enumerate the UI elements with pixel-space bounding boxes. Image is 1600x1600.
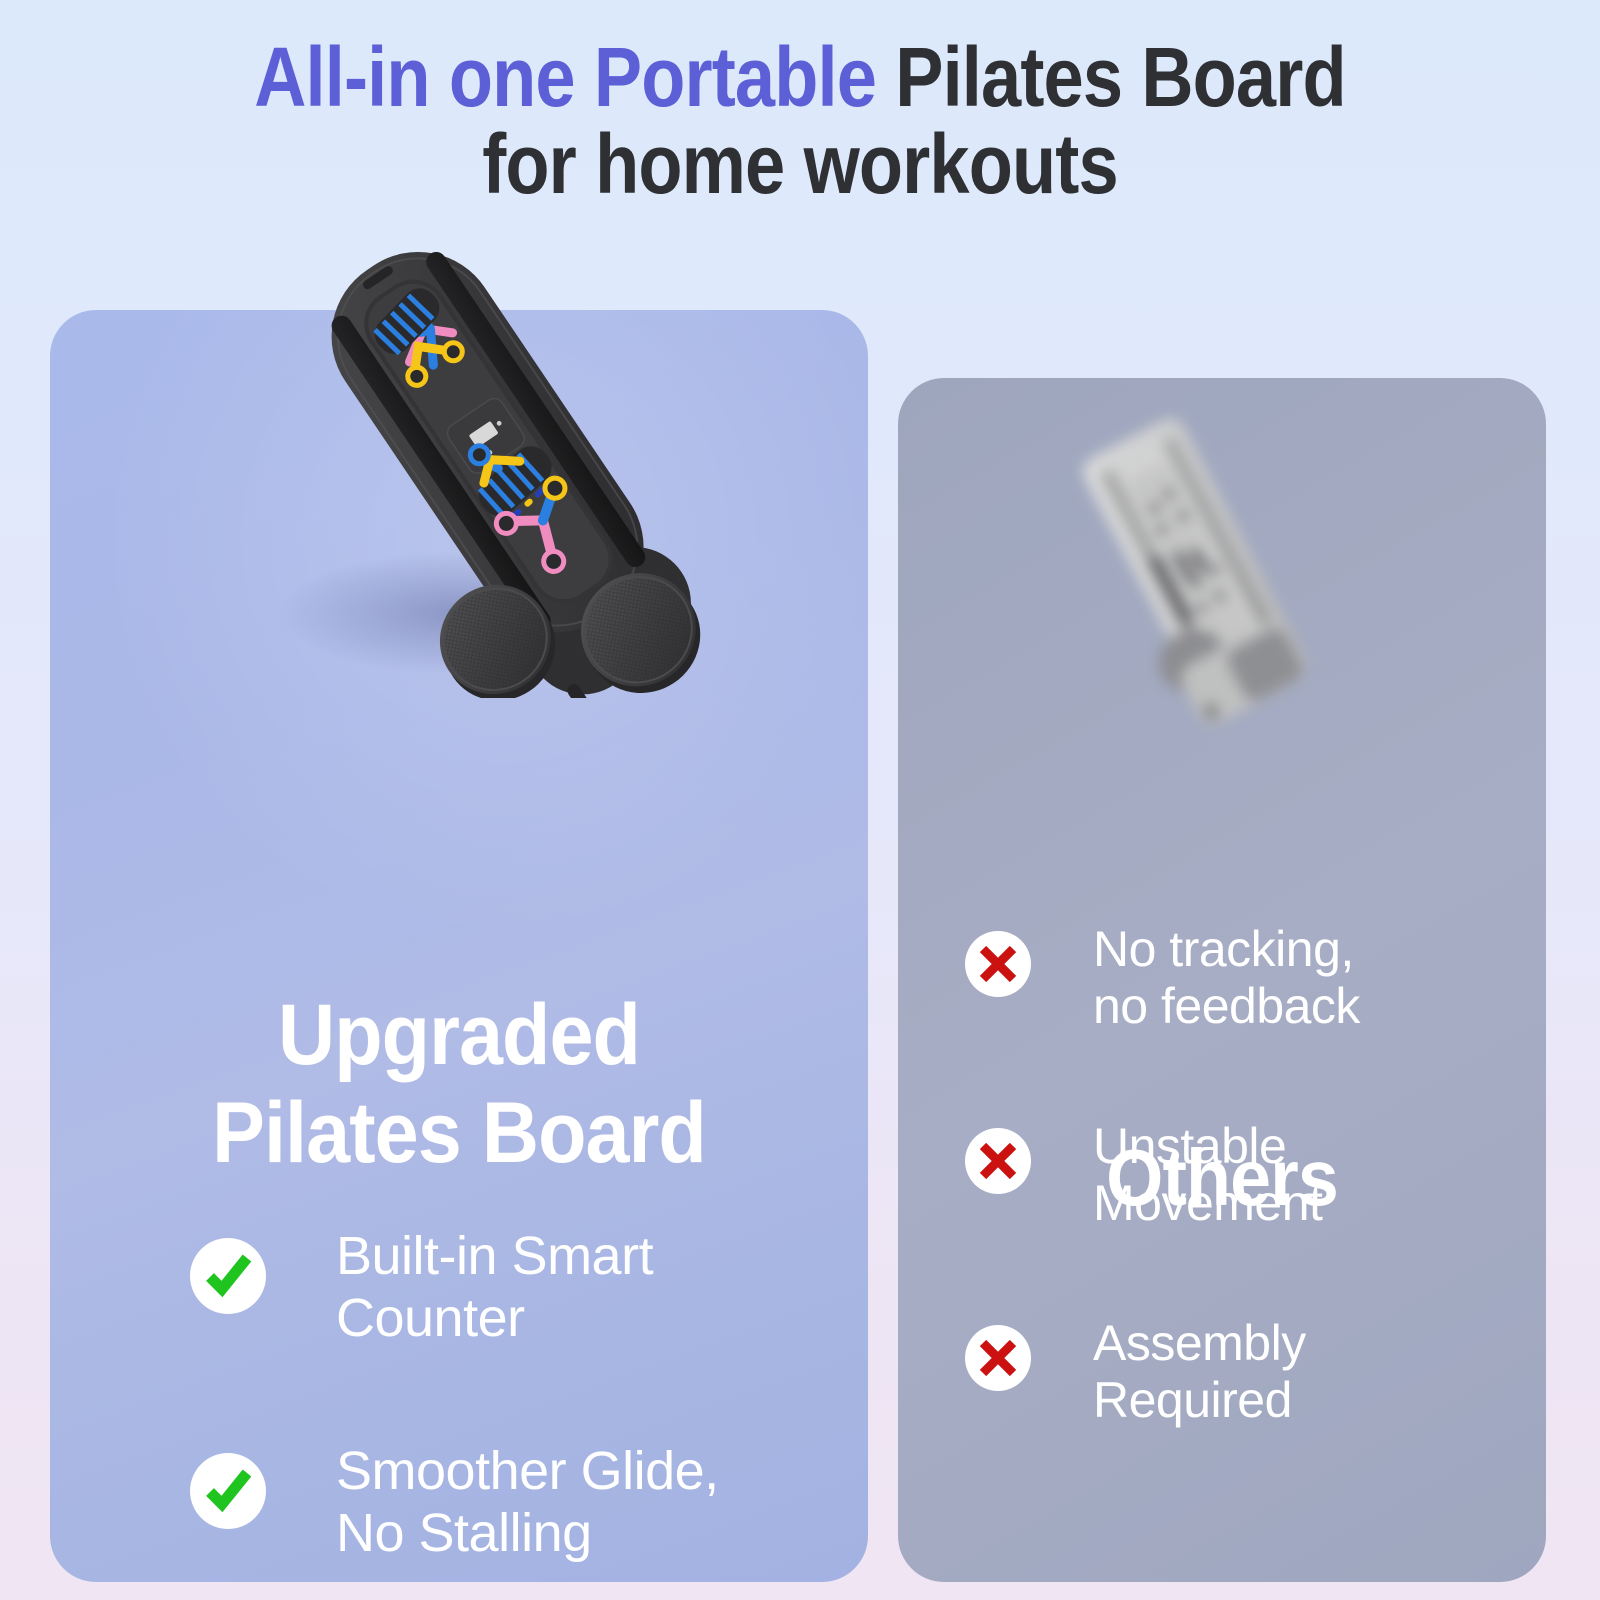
feature-row: Assembly Required [965, 1319, 1465, 1516]
infographic-page: All-in one Portable Pilates Board for ho… [0, 0, 1600, 1600]
page-title-accent: All-in one Portable [254, 30, 895, 124]
feature-label: No tracking, no feedback [1093, 921, 1360, 1035]
check-icon [190, 1453, 266, 1529]
feature-row: Built-in Smart Counter [190, 1230, 850, 1445]
cross-icon [965, 1128, 1031, 1194]
cross-icon [965, 1325, 1031, 1391]
page-title-rest: Pilates Board [895, 30, 1346, 124]
check-icon [190, 1238, 266, 1314]
cross-icon [965, 931, 1031, 997]
feature-row: Smoother Glide, No Stalling [190, 1445, 850, 1582]
comparison-card-others: Others No tracking, no feedback Unstable… [898, 378, 1546, 1582]
feature-row: Unstable Movement [965, 1122, 1465, 1319]
upgraded-card-heading-line1: Upgraded [278, 987, 640, 1083]
feature-label: Unstable Movement [1093, 1118, 1322, 1232]
upgraded-feature-list: Built-in Smart Counter Smoother Glide, N… [190, 1230, 850, 1582]
feature-label: Built-in Smart Counter [336, 1226, 653, 1349]
others-feature-list: No tracking, no feedback Unstable Moveme… [965, 925, 1465, 1516]
page-title-line2: for home workouts [112, 121, 1488, 208]
feature-label: Assembly Required [1093, 1315, 1306, 1429]
upgraded-card-heading: Upgraded Pilates Board [83, 992, 836, 1176]
feature-row: No tracking, no feedback [965, 925, 1465, 1122]
comparison-card-upgraded: Upgraded Pilates Board Built-in Smart Co… [50, 310, 868, 1582]
page-title: All-in one Portable Pilates Board for ho… [112, 34, 1488, 209]
upgraded-card-heading-line2: Pilates Board [83, 1090, 836, 1176]
feature-label: Smoother Glide, No Stalling [336, 1441, 719, 1564]
